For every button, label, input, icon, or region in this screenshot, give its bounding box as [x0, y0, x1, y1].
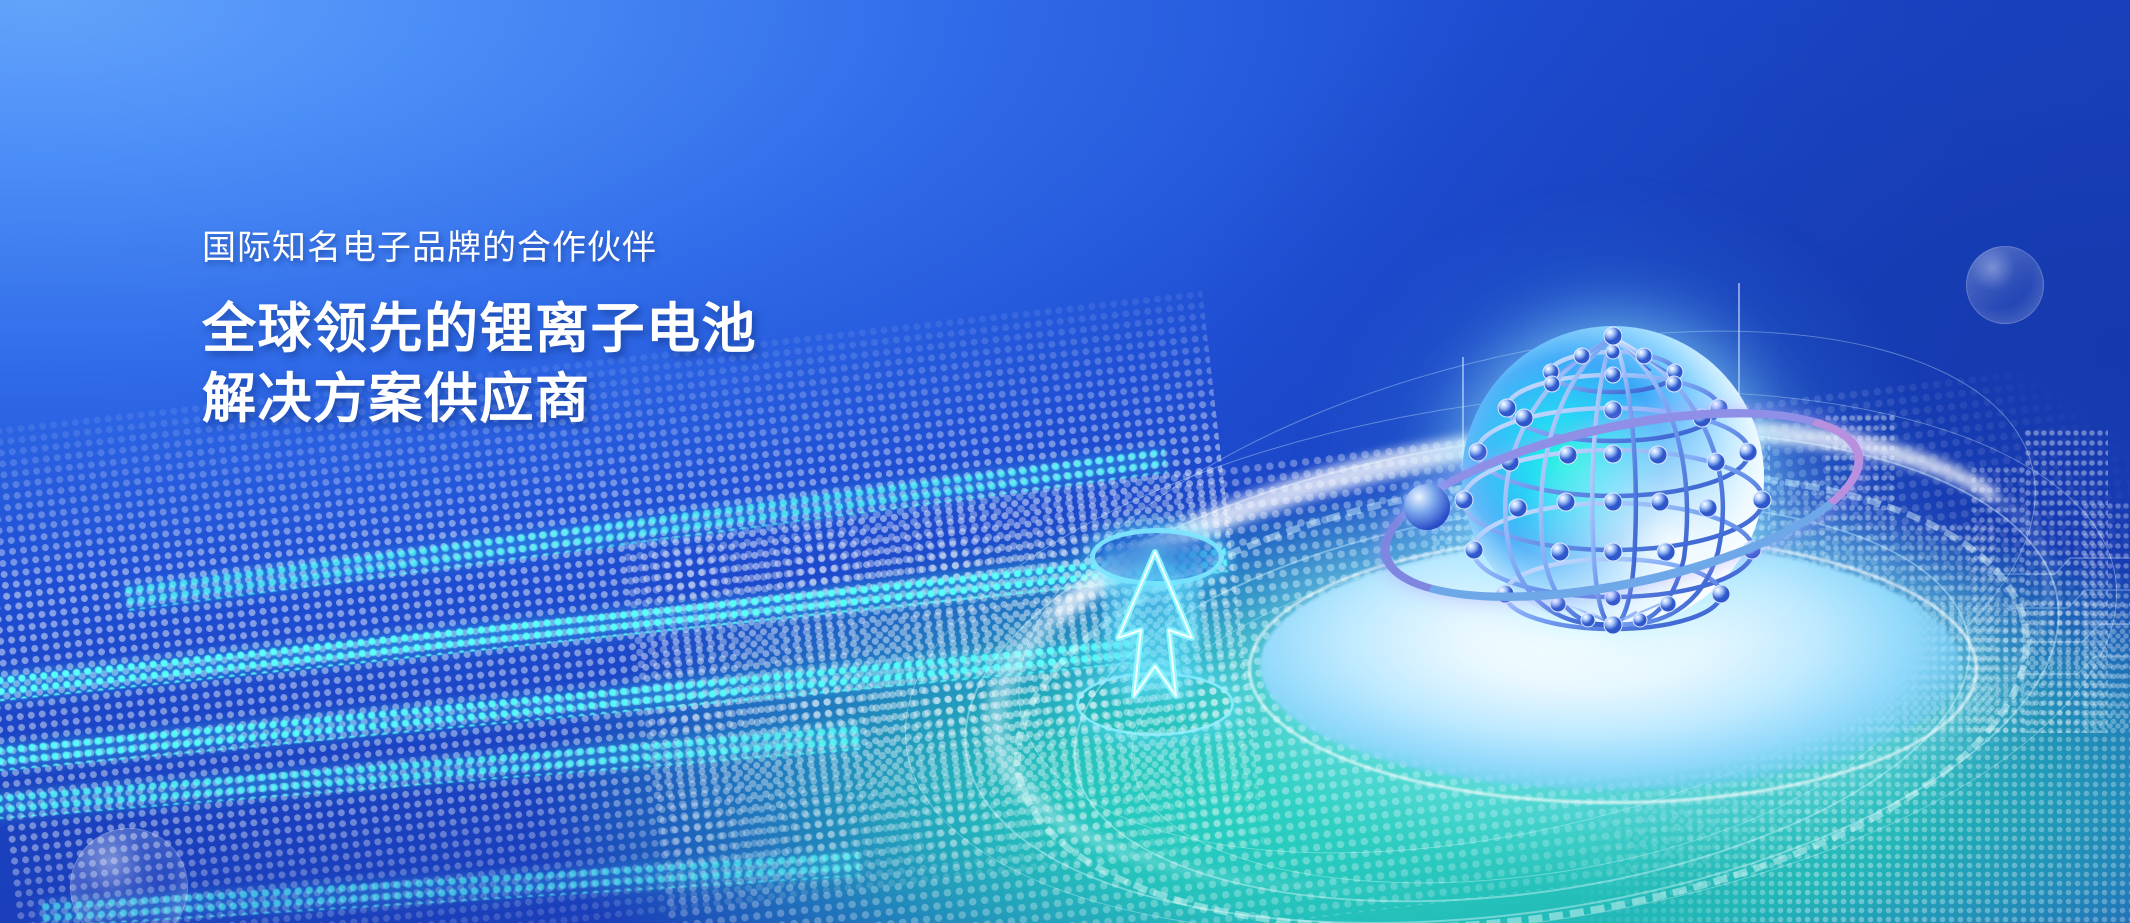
- bubble-top-right: [1966, 246, 2044, 324]
- banner-headline: 全球领先的锂离子电池 解决方案供应商: [202, 295, 962, 433]
- banner-copy: 国际知名电子品牌的合作伙伴 全球领先的锂离子电池 解决方案供应商: [202, 228, 962, 434]
- headline-line-1: 全球领先的锂离子电池: [202, 295, 962, 364]
- wireframe-globe: [1448, 312, 1778, 642]
- banner-canvas: 国际知名电子品牌的合作伙伴 全球领先的锂离子电池 解决方案供应商: [0, 0, 2130, 923]
- banner-eyebrow: 国际知名电子品牌的合作伙伴: [202, 228, 962, 269]
- orbit-node: [1404, 484, 1450, 530]
- headline-line-2: 解决方案供应商: [202, 365, 962, 434]
- upward-arrow-icon: [1112, 546, 1198, 706]
